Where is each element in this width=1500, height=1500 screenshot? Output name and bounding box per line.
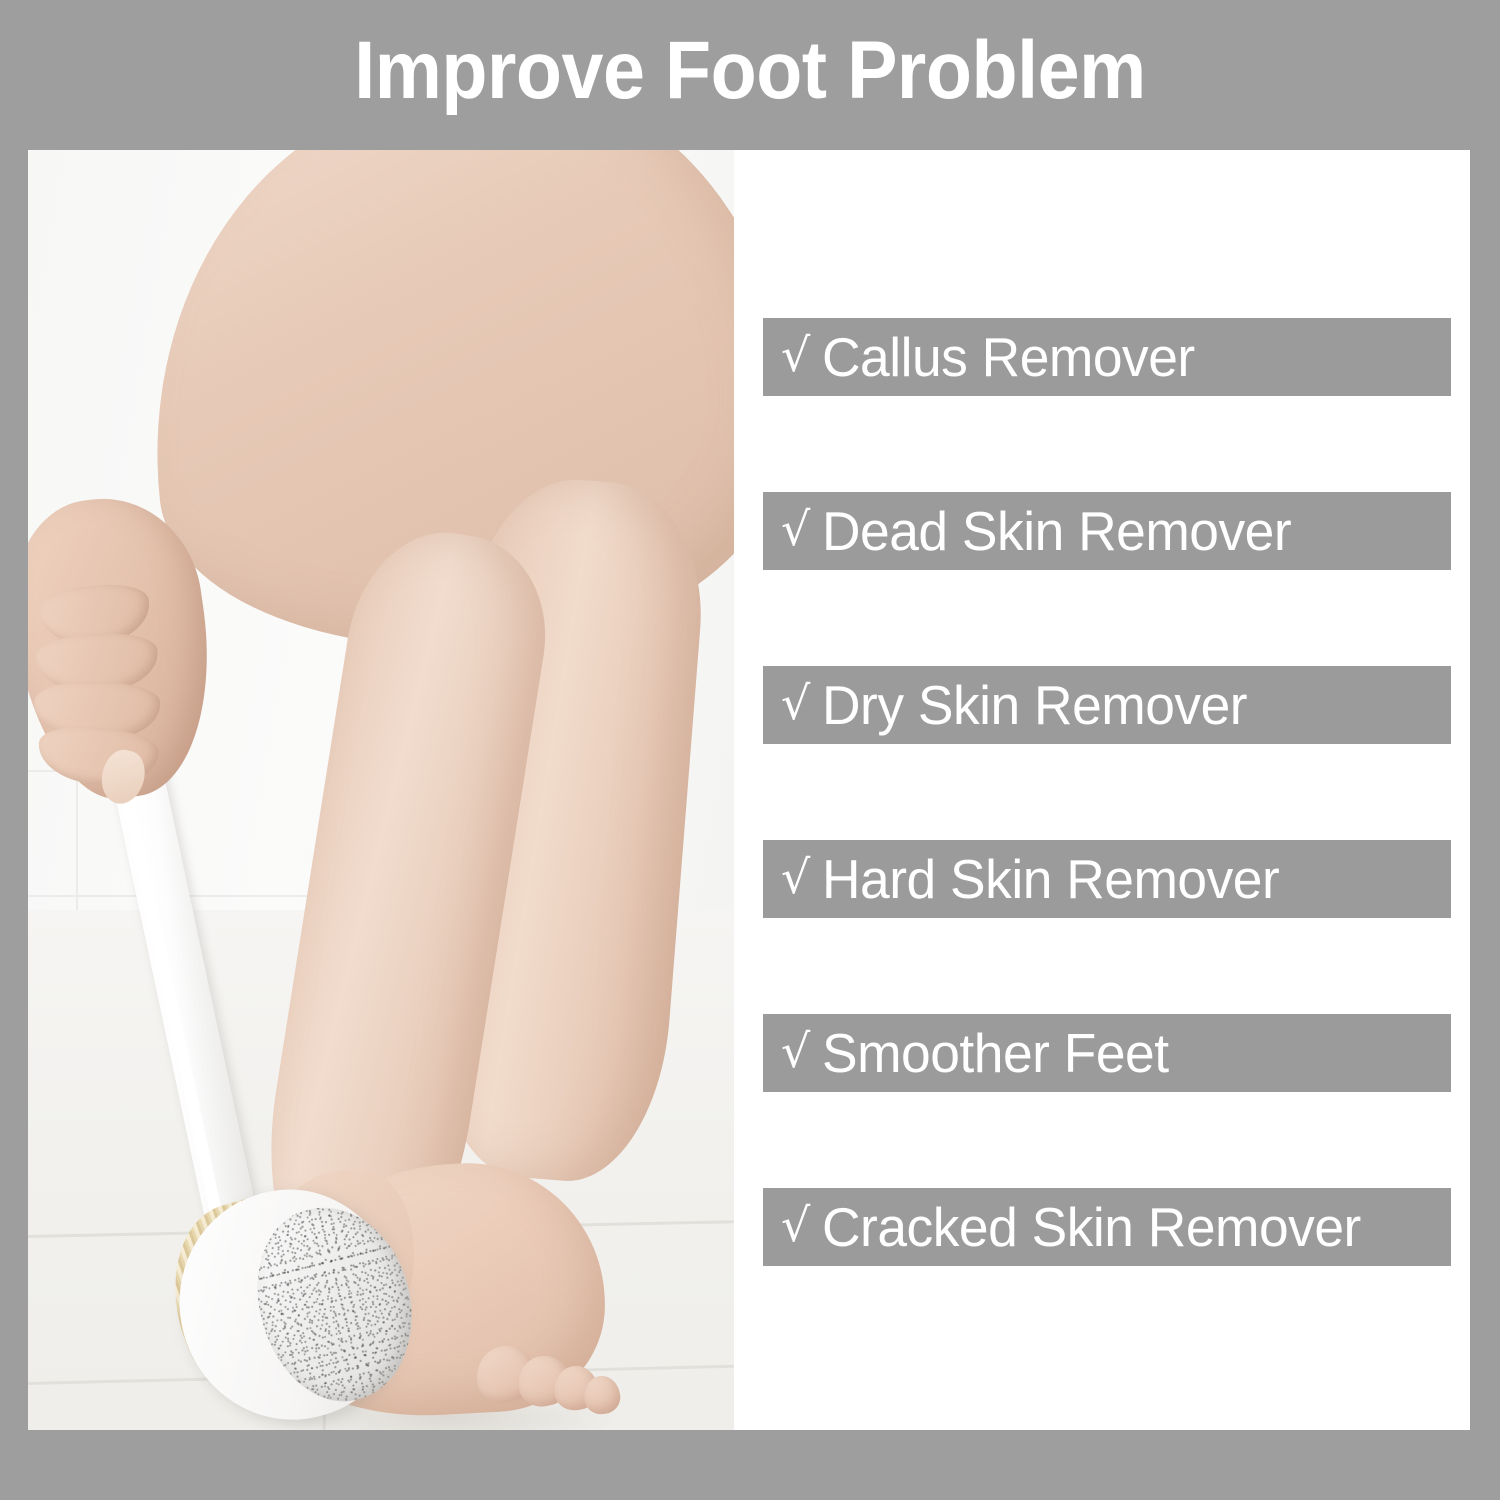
page-title: Improve Foot Problem bbox=[60, 28, 1440, 114]
check-icon: √ bbox=[781, 680, 810, 726]
check-icon: √ bbox=[781, 506, 810, 552]
check-icon: √ bbox=[781, 332, 810, 378]
feature-label: Dry Skin Remover bbox=[822, 678, 1247, 733]
feature-row: √ Cracked Skin Remover bbox=[763, 1188, 1451, 1266]
feature-row: √ Hard Skin Remover bbox=[763, 840, 1451, 918]
content-card: √ Callus Remover √ Dead Skin Remover √ D… bbox=[28, 150, 1470, 1430]
infographic-poster: Improve Foot Problem bbox=[0, 0, 1500, 1500]
feature-label: Smoother Feet bbox=[822, 1026, 1169, 1081]
feature-label: Callus Remover bbox=[822, 330, 1195, 385]
product-usage-photo bbox=[28, 150, 734, 1430]
feature-label: Cracked Skin Remover bbox=[822, 1200, 1361, 1255]
feature-label: Hard Skin Remover bbox=[822, 852, 1279, 907]
feature-row: √ Smoother Feet bbox=[763, 1014, 1451, 1092]
feature-label: Dead Skin Remover bbox=[822, 504, 1291, 559]
feature-row: √ Dead Skin Remover bbox=[763, 492, 1451, 570]
feature-row: √ Dry Skin Remover bbox=[763, 666, 1451, 744]
feature-row: √ Callus Remover bbox=[763, 318, 1451, 396]
check-icon: √ bbox=[781, 854, 810, 900]
check-icon: √ bbox=[781, 1202, 810, 1248]
check-icon: √ bbox=[781, 1028, 810, 1074]
feature-list: √ Callus Remover √ Dead Skin Remover √ D… bbox=[734, 150, 1470, 1430]
